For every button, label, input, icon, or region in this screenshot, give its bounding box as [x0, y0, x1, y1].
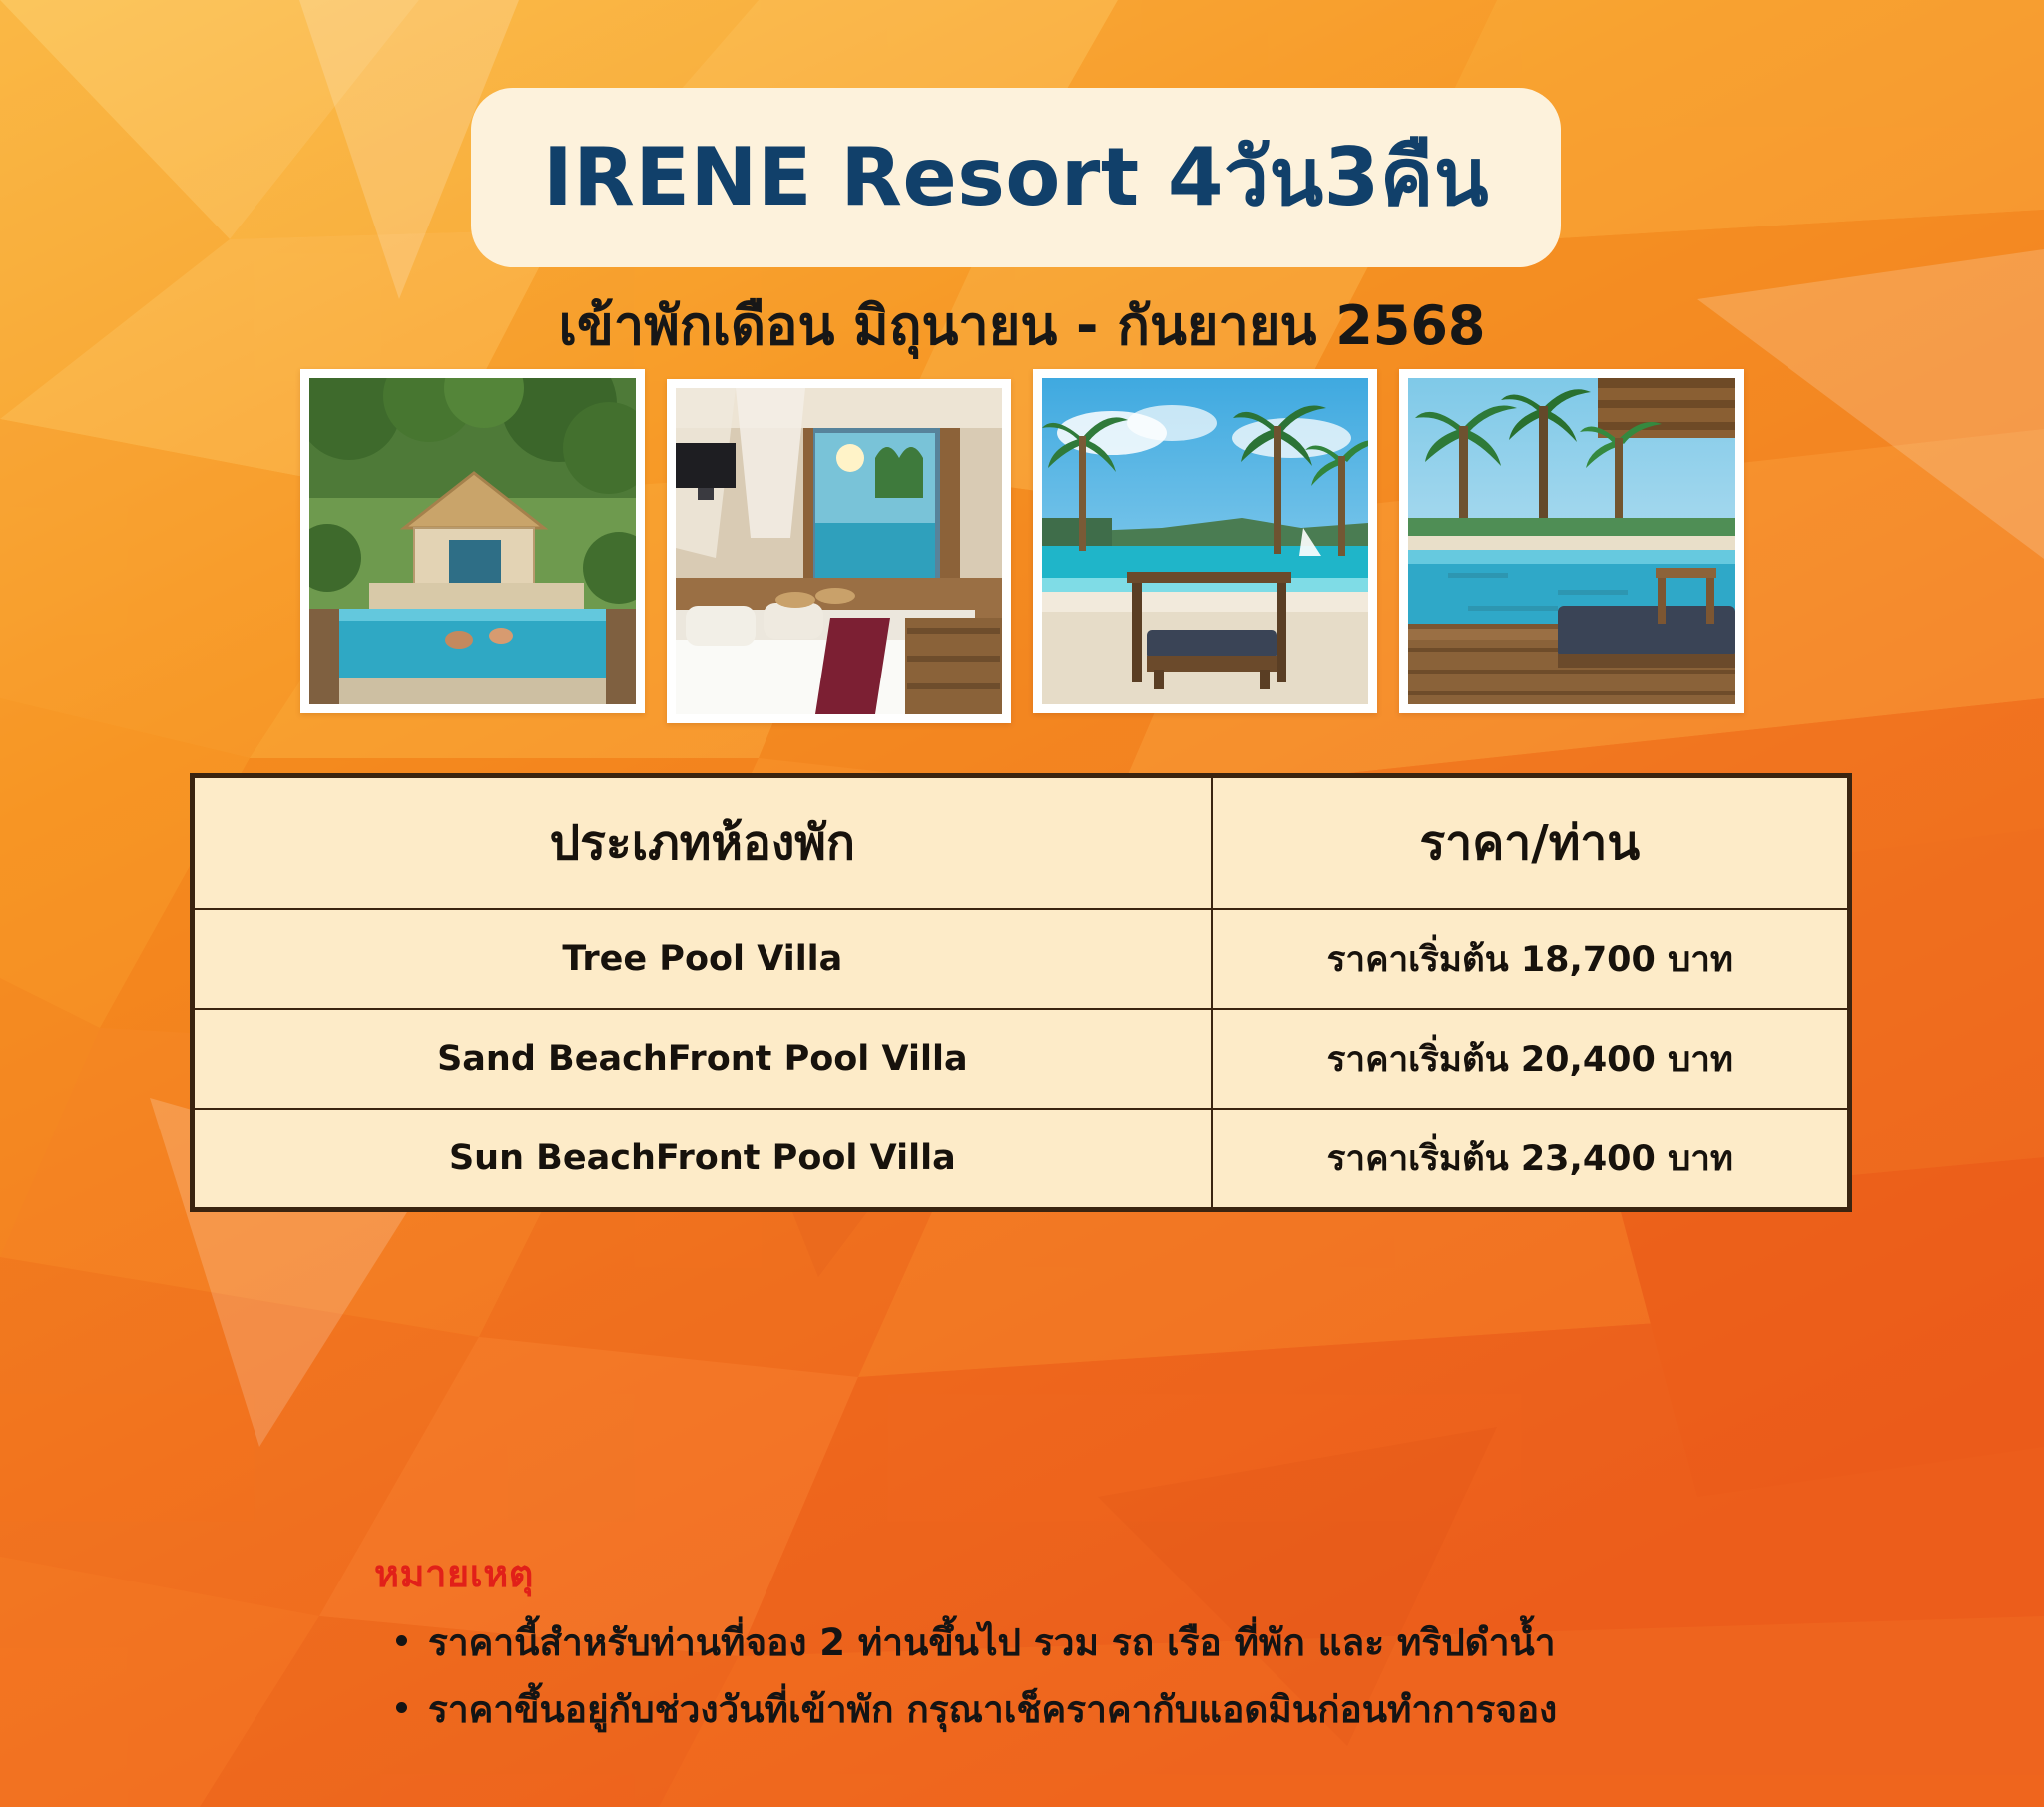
beachfront-pool-photo [1408, 378, 1735, 704]
price-table: ประเภทห้องพัก ราคา/ท่าน Tree Pool Villa … [190, 773, 1852, 1212]
notes-list: ราคานี้สำหรับท่านที่จอง 2 ท่านขึ้นไป รวม… [374, 1617, 1772, 1736]
table-header-row: ประเภทห้องพัก ราคา/ท่าน [194, 777, 1848, 909]
gallery-photo-beachfront-daybed [1033, 369, 1377, 713]
bedroom-villa-photo [676, 388, 1002, 714]
stay-period-subtitle: เข้าพักเดือน มิถุนายน - กันยายน 2568 [0, 282, 2044, 368]
price-cell: ราคาเริ่มต้น 23,400 บาท [1212, 1109, 1848, 1208]
table-row: Tree Pool Villa ราคาเริ่มต้น 18,700 บาท [194, 909, 1848, 1009]
list-item: ราคานี้สำหรับท่านที่จอง 2 ท่านขึ้นไป รวม… [374, 1617, 1772, 1670]
title-banner: IRENE Resort 4วัน3คืน [471, 88, 1561, 267]
tree-pool-villa-photo [309, 378, 636, 704]
gallery-photo-tree-pool-villa [300, 369, 645, 713]
table-row: Sand BeachFront Pool Villa ราคาเริ่มต้น … [194, 1009, 1848, 1109]
list-item: ราคาขึ้นอยู่กับช่วงวันที่เข้าพัก กรุณาเช… [374, 1684, 1772, 1737]
price-cell: ราคาเริ่มต้น 18,700 บาท [1212, 909, 1848, 1009]
gallery-photo-beachfront-pool [1399, 369, 1744, 713]
room-type-cell: Sun BeachFront Pool Villa [194, 1109, 1212, 1208]
table-header-room-type: ประเภทห้องพัก [194, 777, 1212, 909]
bullet-icon [396, 1702, 407, 1713]
photo-gallery [299, 369, 1745, 713]
notes-section: หมายเหตุ ราคานี้สำหรับท่านที่จอง 2 ท่านข… [374, 1543, 1772, 1750]
bullet-icon [396, 1635, 407, 1646]
table-header-price: ราคา/ท่าน [1212, 777, 1848, 909]
page-title: IRENE Resort 4วัน3คืน [543, 138, 1489, 218]
notes-title: หมายเหตุ [374, 1543, 1772, 1603]
note-text: ราคานี้สำหรับท่านที่จอง 2 ท่านขึ้นไป รวม… [428, 1621, 1556, 1664]
room-type-cell: Tree Pool Villa [194, 909, 1212, 1009]
beachfront-daybed-photo [1042, 378, 1368, 704]
table-row: Sun BeachFront Pool Villa ราคาเริ่มต้น 2… [194, 1109, 1848, 1208]
note-text: ราคาขึ้นอยู่กับช่วงวันที่เข้าพัก กรุณาเช… [428, 1688, 1557, 1731]
gallery-photo-bedroom-villa [667, 379, 1011, 723]
price-cell: ราคาเริ่มต้น 20,400 บาท [1212, 1009, 1848, 1109]
room-type-cell: Sand BeachFront Pool Villa [194, 1009, 1212, 1109]
